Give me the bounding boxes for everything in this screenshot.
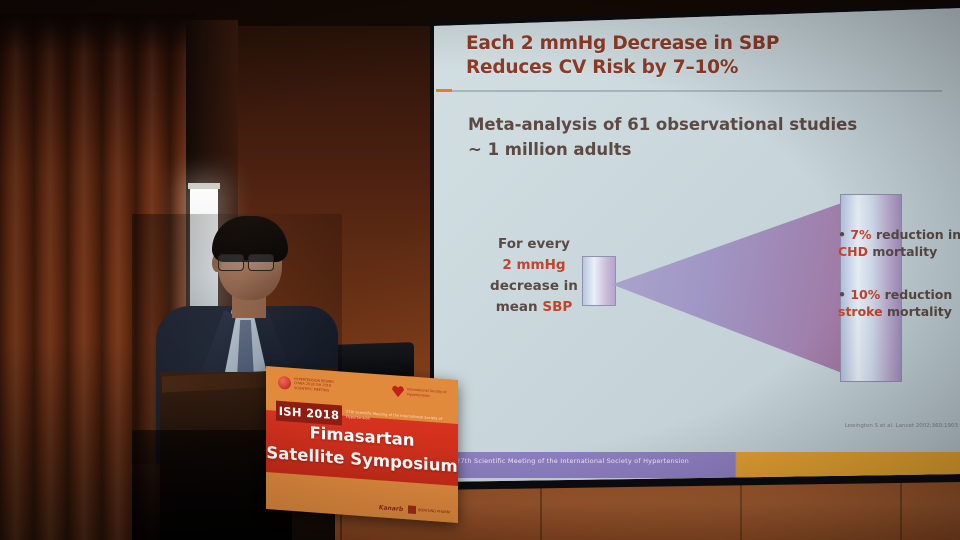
sponsor-boryung-text: BORYUNG PHARM — [418, 508, 450, 515]
bullet-keyword: stroke — [838, 304, 883, 319]
bullet-text-after: mortality — [868, 244, 937, 259]
caption-sbp: SBP — [542, 299, 572, 315]
slide-title-line1: Each 2 mmHg Decrease in SBP — [466, 32, 936, 56]
slide-subhead: Meta-analysis of 61 observational studie… — [468, 112, 908, 162]
ish-logo-mark-icon — [278, 376, 291, 390]
bullet-marker: • — [838, 287, 846, 302]
title-divider-accent — [436, 89, 452, 92]
small-input-box — [582, 256, 616, 306]
subhead-line2: ~ 1 million adults — [468, 137, 908, 162]
ish-logo-left-text: HYPERTENSION BEIJING CHINA 2018 ISH 2018… — [294, 377, 340, 394]
bullet-item: • 10% reduction stroke mortality — [838, 286, 960, 320]
amplification-cone — [612, 200, 850, 376]
sponsor-logos: Kanarb BORYUNG PHARM — [379, 503, 450, 516]
curtain-shadow — [0, 14, 196, 54]
slide-citation: Lewington S et al. Lancet 2002;360:1903 — [834, 422, 958, 430]
bullet-percent: 7% — [850, 227, 871, 242]
bullet-text-before: reduction in — [872, 227, 960, 242]
podium-banner: HYPERTENSION BEIJING CHINA 2018 ISH 2018… — [266, 366, 458, 523]
bullet-text-after: mortality — [883, 304, 952, 319]
caption-line1: For every — [466, 234, 602, 255]
bullet-keyword: CHD — [838, 244, 868, 259]
subhead-line1: Meta-analysis of 61 observational studie… — [468, 112, 908, 137]
conference-photo-scene: Each 2 mmHg Decrease in SBP Reduces CV R… — [0, 0, 960, 540]
sponsor-kanarb-logo: Kanarb — [379, 504, 403, 513]
ish-logo-left: HYPERTENSION BEIJING CHINA 2018 ISH 2018… — [278, 375, 340, 395]
sponsor-boryung-logo: BORYUNG PHARM — [408, 505, 450, 516]
slide-footer-band — [434, 452, 960, 478]
outcome-bullets: • 7% reduction in CHD mortality • 10% re… — [838, 226, 960, 320]
slide-title: Each 2 mmHg Decrease in SBP Reduces CV R… — [466, 32, 936, 80]
bullet-item: • 7% reduction in CHD mortality — [838, 226, 960, 260]
bullet-text-before: reduction — [880, 287, 952, 302]
heart-icon — [392, 385, 404, 398]
screen-surface: Each 2 mmHg Decrease in SBP Reduces CV R… — [434, 4, 960, 486]
projection-screen: Each 2 mmHg Decrease in SBP Reduces CV R… — [430, 4, 960, 490]
slide-content: Each 2 mmHg Decrease in SBP Reduces CV R… — [434, 4, 960, 486]
bullet-marker: • — [838, 227, 846, 242]
sponsor-mark-icon — [408, 505, 416, 514]
ish-logo-right: International Society of Hypertension — [392, 383, 448, 402]
slide-title-line2: Reduces CV Risk by 7–10% — [466, 56, 936, 80]
ish-logo-right-text: International Society of Hypertension — [407, 387, 448, 399]
caption-mean: mean — [496, 299, 543, 315]
window-frame-bar — [188, 183, 220, 189]
slide-footer-text: 27th Scientific Meeting of the Internati… — [456, 457, 689, 465]
bullet-percent: 10% — [850, 287, 880, 302]
title-divider — [442, 90, 942, 92]
